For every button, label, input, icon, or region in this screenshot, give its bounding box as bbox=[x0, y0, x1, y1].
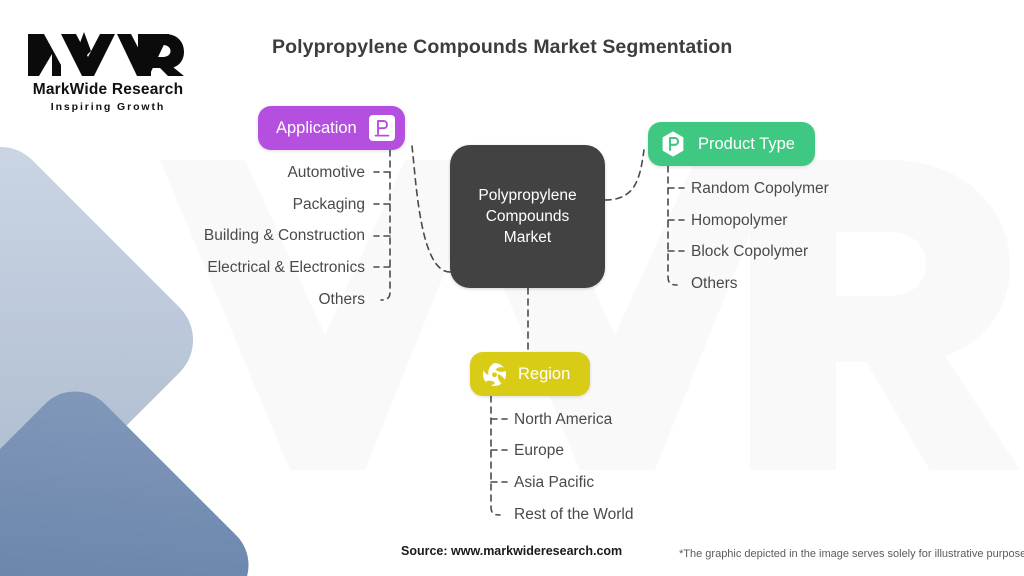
center-line-3: Market bbox=[478, 227, 576, 248]
list-item: Rest of the World bbox=[514, 507, 633, 523]
badge-application[interactable]: Application bbox=[258, 106, 405, 150]
list-item: Packaging bbox=[293, 197, 365, 213]
connector-lines bbox=[0, 0, 1024, 576]
list-item: Electrical & Electronics bbox=[207, 260, 365, 276]
disclaimer-label: *The graphic depicted in the image serve… bbox=[679, 548, 1024, 560]
list-item: Random Copolymer bbox=[691, 181, 829, 197]
badge-product-type-label: Product Type bbox=[698, 135, 795, 154]
connector-center-application bbox=[412, 146, 450, 272]
list-item: Others bbox=[318, 292, 365, 308]
infographic-canvas: MarkWide Research Inspiring Growth Polyp… bbox=[0, 0, 1024, 576]
center-node-text: Polypropylene Compounds Market bbox=[478, 185, 576, 248]
badge-application-label: Application bbox=[276, 119, 357, 138]
center-node: Polypropylene Compounds Market bbox=[450, 145, 605, 288]
list-item: Automotive bbox=[287, 165, 365, 181]
source-label: Source: www.markwideresearch.com bbox=[401, 544, 622, 558]
badge-product-type[interactable]: Product Type bbox=[648, 122, 815, 166]
badge-region[interactable]: Region bbox=[470, 352, 590, 396]
globe-icon bbox=[481, 361, 508, 388]
center-line-1: Polypropylene bbox=[478, 185, 576, 206]
spine-region bbox=[491, 396, 500, 515]
list-item: Building & Construction bbox=[204, 228, 365, 244]
list-item: Homopolymer bbox=[691, 213, 787, 229]
connector-center-product-type bbox=[605, 150, 644, 200]
list-item: North America bbox=[514, 412, 612, 428]
list-item: Europe bbox=[514, 443, 564, 459]
list-item: Others bbox=[691, 276, 738, 292]
hexagon-p-icon bbox=[659, 130, 687, 158]
center-line-2: Compounds bbox=[478, 206, 576, 227]
list-item: Asia Pacific bbox=[514, 475, 594, 491]
list-item: Block Copolymer bbox=[691, 244, 808, 260]
parking-p-icon bbox=[369, 115, 395, 141]
spine-product-type bbox=[668, 166, 677, 285]
badge-region-label: Region bbox=[518, 365, 570, 384]
